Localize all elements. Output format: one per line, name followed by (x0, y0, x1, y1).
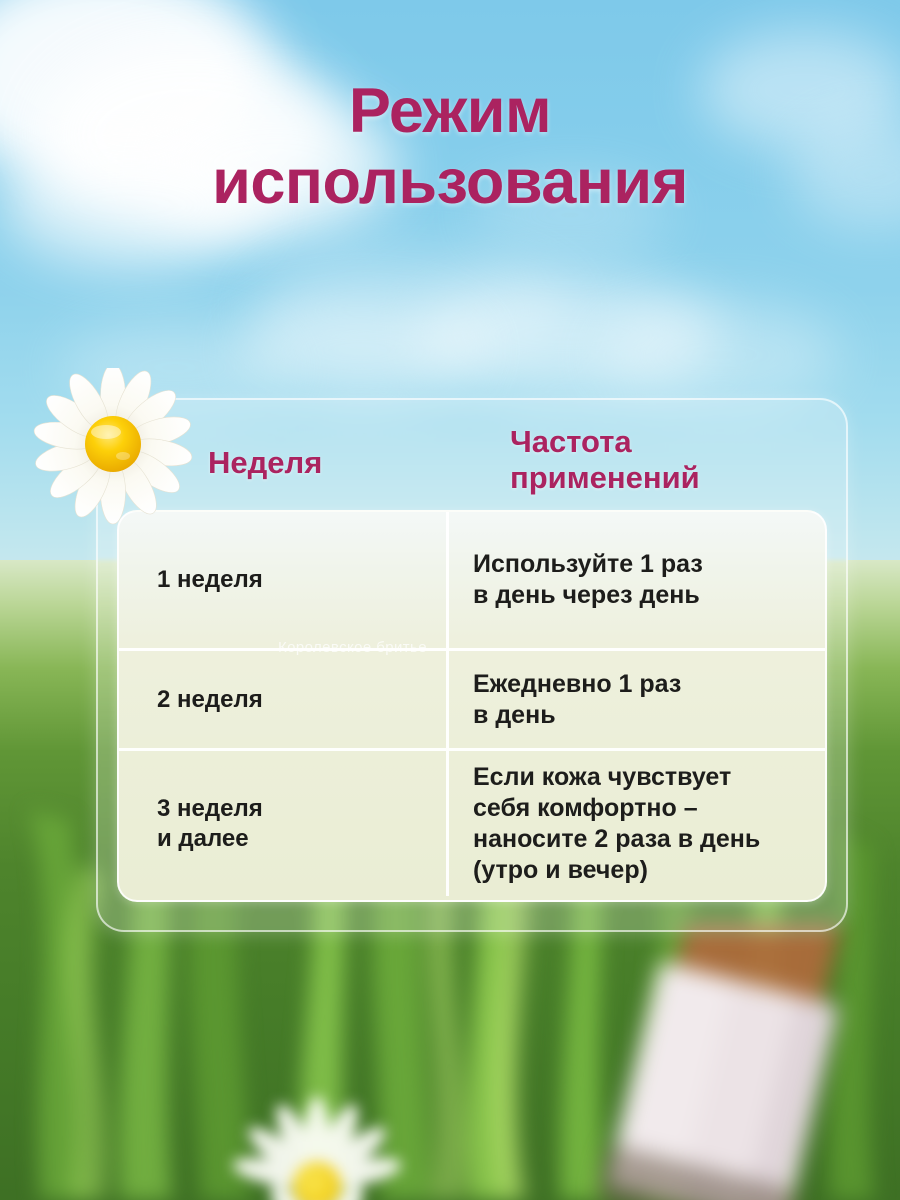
column-header-frequency: Частота применений (510, 424, 700, 496)
cell-week-line-1: 1 неделя (157, 565, 263, 595)
cell-frequency-line-3: наносите 2 раза в день (473, 824, 760, 855)
usage-schedule-table: 1 неделя Используйте 1 раз в день через … (117, 510, 827, 902)
cell-frequency-line-2: в день через день (473, 580, 703, 611)
cell-frequency: Используйте 1 раз в день через день (449, 512, 825, 648)
column-header-frequency-line-2: применений (510, 460, 700, 496)
table-row: 2 неделя Ежедневно 1 раз в день (119, 648, 825, 748)
cell-week: 3 неделя и далее (119, 751, 449, 896)
cell-frequency-line-2: себя комфортно – (473, 793, 760, 824)
cell-week: 2 неделя (119, 651, 449, 748)
table-row: 1 неделя Используйте 1 раз в день через … (119, 512, 825, 648)
cloud-shape (600, 300, 840, 410)
cell-week-line-1: 3 неделя (157, 794, 263, 824)
cell-frequency-line-1: Если кожа чувствует (473, 762, 760, 793)
column-header-week: Неделя (208, 445, 322, 481)
daisy-flower-icon (222, 1090, 412, 1200)
cell-week-line-2: и далее (157, 824, 263, 854)
title-line-2: использования (0, 147, 900, 218)
cell-frequency: Если кожа чувствует себя комфортно – нан… (449, 751, 825, 896)
product-bottle-image (600, 925, 890, 1200)
cell-frequency: Ежедневно 1 раз в день (449, 651, 825, 748)
daisy-flower-icon (33, 368, 193, 526)
cell-week-line-1: 2 неделя (157, 685, 263, 715)
table-row: 3 неделя и далее Если кожа чувствует себ… (119, 748, 825, 896)
title-line-1: Режим (349, 76, 551, 146)
cell-frequency-line-1: Ежедневно 1 раз (473, 669, 681, 700)
column-header-frequency-line-1: Частота (510, 424, 700, 460)
page-title: Режим использования (0, 76, 900, 218)
cell-frequency-line-4: (утро и вечер) (473, 855, 760, 886)
cell-frequency-line-1: Используйте 1 раз (473, 549, 703, 580)
poster-canvas: Режим использования Неделя Частота приме… (0, 0, 900, 1200)
cell-week: 1 неделя (119, 512, 449, 648)
cell-frequency-line-2: в день (473, 700, 681, 731)
table-header-row: Неделя Частота применений (96, 398, 844, 510)
